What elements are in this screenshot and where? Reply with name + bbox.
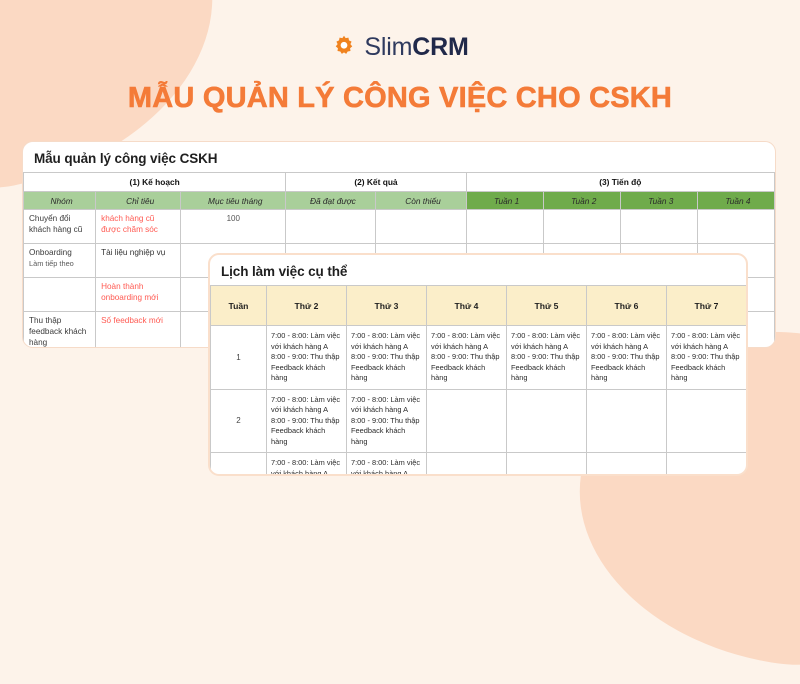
schedule-table-row[interactable]: 27:00 - 8:00: Làm việc với khách hàng A8… — [211, 389, 747, 453]
plan-card-title: Mẫu quản lý công việc CSKH — [23, 142, 775, 172]
page-title: MẪU QUẢN LÝ CÔNG VIỆC CHO CSKH — [0, 82, 800, 115]
plan-table-row[interactable]: Chuyển đổi khách hàng cũkhách hàng cũ đư… — [24, 210, 775, 244]
schedule-header-day-3: Thứ 4 — [427, 286, 507, 326]
schedule-header-tuan: Tuần — [211, 286, 267, 326]
plan-cell-nhom[interactable]: OnboardingLàm tiếp theo — [24, 244, 96, 278]
schedule-cell-day-6[interactable]: 7:00 - 8:00: Làm việc với khách hàng A8:… — [667, 326, 747, 390]
plan-subheader-8: Tuần 3 — [620, 192, 697, 210]
schedule-cell-week: 1 — [211, 326, 267, 390]
schedule-header-day-1: Thứ 2 — [267, 286, 347, 326]
brand-name-bold: CRM — [412, 33, 468, 61]
schedule-header-row: TuầnThứ 2Thứ 3Thứ 4Thứ 5Thứ 6Thứ 7 — [211, 286, 747, 326]
plan-cell-muc-tieu[interactable]: 100 — [181, 210, 286, 244]
plan-cell-tuan-1[interactable] — [466, 210, 543, 244]
plan-cell-chi-tieu[interactable]: Số feedback mới — [96, 312, 181, 349]
plan-cell-con-thieu[interactable] — [376, 210, 466, 244]
plan-subheader-9: Tuần 4 — [697, 192, 774, 210]
plan-cell-chi-tieu[interactable]: khách hàng cũ được chăm sóc — [96, 210, 181, 244]
plan-group-header-2: (2) Kết quả — [286, 173, 466, 192]
schedule-table: TuầnThứ 2Thứ 3Thứ 4Thứ 5Thứ 6Thứ 7 17:00… — [210, 285, 747, 476]
plan-cell-nhom[interactable] — [24, 278, 96, 312]
plan-table-head: (1) Kế hoạch(2) Kết quả(3) Tiến độ NhómC… — [24, 173, 775, 210]
schedule-cell-day-4[interactable]: 7:00 - 8:00: Làm việc với khách hàng A8:… — [507, 326, 587, 390]
schedule-table-body: 17:00 - 8:00: Làm việc với khách hàng A8… — [211, 326, 747, 477]
schedule-table-row[interactable]: 37:00 - 8:00: Làm việc với khách hàng A8… — [211, 453, 747, 476]
plan-subheader-7: Tuần 2 — [543, 192, 620, 210]
brand-logo: SlimCRM — [0, 34, 800, 60]
plan-cell-nhom[interactable]: Chuyển đổi khách hàng cũ — [24, 210, 96, 244]
brand-name-light: Slim — [364, 33, 412, 61]
schedule-cell-day-6[interactable] — [667, 389, 747, 453]
schedule-card-title: Lịch làm việc cụ thể — [210, 255, 746, 285]
plan-subheader-4: Đã đạt được — [286, 192, 376, 210]
schedule-cell-day-5[interactable] — [587, 389, 667, 453]
schedule-cell-week: 2 — [211, 389, 267, 453]
schedule-header-day-2: Thứ 3 — [347, 286, 427, 326]
plan-subheader-6: Tuần 1 — [466, 192, 543, 210]
plan-cell-nhom[interactable]: Thu thập feedback khách hàng — [24, 312, 96, 349]
schedule-cell-day-3[interactable] — [427, 453, 507, 476]
schedule-cell-day-4[interactable] — [507, 389, 587, 453]
schedule-cell-day-2[interactable]: 7:00 - 8:00: Làm việc với khách hàng A8:… — [347, 453, 427, 476]
plan-subheader-3: Mục tiêu tháng — [181, 192, 286, 210]
schedule-table-row[interactable]: 17:00 - 8:00: Làm việc với khách hàng A8… — [211, 326, 747, 390]
plan-cell-tuan-4[interactable] — [697, 210, 774, 244]
gear-icon — [331, 34, 357, 60]
schedule-cell-day-5[interactable] — [587, 453, 667, 476]
plan-cell-tuan-3[interactable] — [620, 210, 697, 244]
schedule-cell-day-6[interactable] — [667, 453, 747, 476]
brand-name: SlimCRM — [364, 35, 468, 60]
plan-subheader-1: Nhóm — [24, 192, 96, 210]
plan-cell-da-dat[interactable] — [286, 210, 376, 244]
plan-subheader-2: Chỉ tiêu — [96, 192, 181, 210]
plan-group-header-3: (3) Tiến độ — [466, 173, 774, 192]
plan-cell-tuan-2[interactable] — [543, 210, 620, 244]
schedule-cell-day-3[interactable]: 7:00 - 8:00: Làm việc với khách hàng A8:… — [427, 326, 507, 390]
schedule-cell-day-1[interactable]: 7:00 - 8:00: Làm việc với khách hàng A8:… — [267, 453, 347, 476]
schedule-header-day-6: Thứ 7 — [667, 286, 747, 326]
schedule-header-day-5: Thứ 6 — [587, 286, 667, 326]
plan-group-header-1: (1) Kế hoạch — [24, 173, 286, 192]
schedule-cell-day-5[interactable]: 7:00 - 8:00: Làm việc với khách hàng A8:… — [587, 326, 667, 390]
schedule-cell-day-2[interactable]: 7:00 - 8:00: Làm việc với khách hàng A8:… — [347, 326, 427, 390]
schedule-cell-day-1[interactable]: 7:00 - 8:00: Làm việc với khách hàng A8:… — [267, 326, 347, 390]
schedule-cell-week: 3 — [211, 453, 267, 476]
schedule-card: Lịch làm việc cụ thể TuầnThứ 2Thứ 3Thứ 4… — [208, 253, 748, 476]
schedule-cell-day-2[interactable]: 7:00 - 8:00: Làm việc với khách hàng A8:… — [347, 389, 427, 453]
schedule-cell-day-1[interactable]: 7:00 - 8:00: Làm việc với khách hàng A8:… — [267, 389, 347, 453]
plan-subheader-5: Còn thiếu — [376, 192, 466, 210]
schedule-cell-day-4[interactable] — [507, 453, 587, 476]
plan-subheader-row: NhómChỉ tiêuMục tiêu thángĐã đạt đượcCòn… — [24, 192, 775, 210]
plan-cell-chi-tieu[interactable]: Tài liệu nghiệp vụ — [96, 244, 181, 278]
schedule-header-day-4: Thứ 5 — [507, 286, 587, 326]
schedule-cell-day-3[interactable] — [427, 389, 507, 453]
plan-group-row: (1) Kế hoạch(2) Kết quả(3) Tiến độ — [24, 173, 775, 192]
plan-cell-chi-tieu[interactable]: Hoàn thành onboarding mới — [96, 278, 181, 312]
schedule-table-head: TuầnThứ 2Thứ 3Thứ 4Thứ 5Thứ 6Thứ 7 — [211, 286, 747, 326]
